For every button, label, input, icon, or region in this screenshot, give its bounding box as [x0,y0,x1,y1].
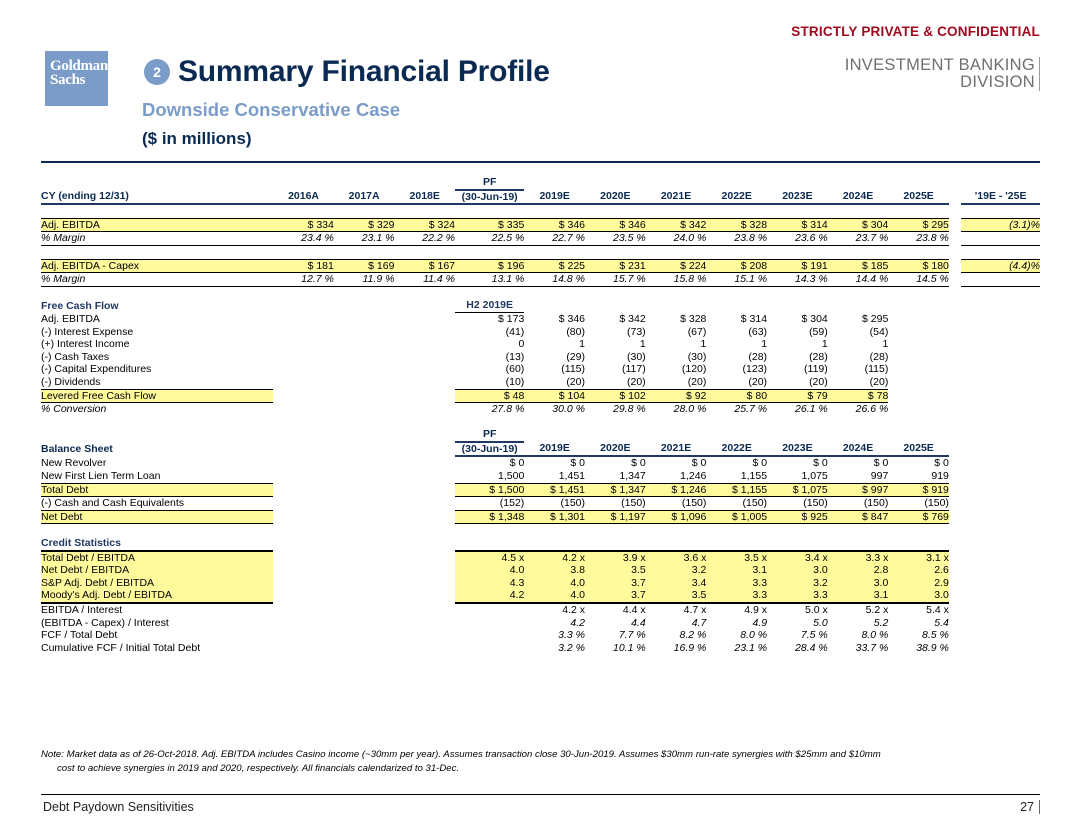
table-row-interest-income: (+) Interest Income 0 1 1 1 1 1 1 [41,338,1040,351]
cell: 23.6 % [767,232,828,246]
section-title: Balance Sheet [41,442,273,457]
row-label: (EBITDA - Capex) / Interest [41,617,273,630]
cell: 30.0 % [524,403,585,416]
bs-col-header-2024e: 2024E [828,442,889,457]
row-label: % Conversion [41,403,273,416]
cell: (117) [585,363,646,376]
cell: 1,246 [646,470,707,483]
cell: 1 [585,338,646,351]
cell: 1 [524,338,585,351]
cell: $ 191 [767,259,828,273]
cell: (115) [828,363,889,376]
cell: $ 346 [585,218,646,232]
cell: 2.8 [828,564,889,577]
cell [455,617,524,630]
cell: 1,155 [706,470,767,483]
row-label: (-) Capital Expenditures [41,363,273,376]
cell: $ 1,301 [524,510,585,524]
cell: 1 [706,338,767,351]
cell-cagr [961,273,1040,287]
cell: $ 295 [828,312,889,325]
cell: (30) [585,351,646,364]
page-number: 27 [1020,800,1040,814]
footnote: Note: Market data as of 26-Oct-2018. Adj… [41,748,1041,775]
cell: $ 1,500 [455,483,524,497]
cell: $ 0 [524,456,585,470]
cell: (20) [646,376,707,389]
row-label: EBITDA / Interest [41,603,273,617]
financial-table: PF CY (ending 12/31) 2016A 2017A 2018E (… [41,176,1040,654]
section-header-free-cash-flow: Free Cash Flow H2 2019E [41,299,1040,312]
cell: $ 925 [767,510,828,524]
cell: 4.2 [455,589,524,603]
cell: $ 0 [888,456,949,470]
cell: 2.6 [888,564,949,577]
row-label-header: CY (ending 12/31) [41,190,273,205]
cell: 4.2 [524,617,585,630]
header-divider [41,161,1040,163]
cell: (20) [767,376,828,389]
table-row-levered-free-cash-flow: Levered Free Cash Flow $ 48 $ 104 $ 102 … [41,389,1040,403]
cell: (13) [455,351,524,364]
cell: 5.0 [767,617,828,630]
cell: $ 847 [828,510,889,524]
spacer [41,524,1040,537]
cell-cagr: (3.1)% [961,218,1040,232]
cell: 3.0 [888,589,949,603]
table-row-conversion: % Conversion 27.8 % 30.0 % 29.8 % 28.0 %… [41,403,1040,416]
cell: 5.4 [888,617,949,630]
cell: 23.8 % [706,232,767,246]
cell: (28) [767,351,828,364]
table-row-fcf-total-debt: FCF / Total Debt 3.3 % 7.7 % 8.2 % 8.0 %… [41,629,1040,642]
footer-section-label: Debt Paydown Sensitivities [43,800,194,814]
cell: $ 169 [334,259,395,273]
cell: 14.8 % [524,273,585,287]
cell: 3.4 x [767,551,828,565]
cell: 3.3 [767,589,828,603]
cell: 14.5 % [888,273,949,287]
cell: 8.2 % [646,629,707,642]
cell: 4.7 [646,617,707,630]
cell: 26.6 % [828,403,889,416]
cell: 4.3 [455,577,524,590]
cell: $ 295 [888,218,949,232]
cell: $ 0 [585,456,646,470]
col-header-2020e: 2020E [585,190,646,205]
cell: (80) [524,326,585,339]
bs-col-header-2019e: 2019E [524,442,585,457]
cell: 919 [888,470,949,483]
row-label: Adj. EBITDA [41,218,273,232]
cell [455,603,524,617]
col-header-2019e: 2019E [524,190,585,205]
cell: $ 328 [646,312,707,325]
cell: $ 342 [585,312,646,325]
cell: 3.0 [767,564,828,577]
table-row-cash-taxes: (-) Cash Taxes (13) (29) (30) (30) (28) … [41,351,1040,364]
cell: 1 [646,338,707,351]
row-label: (-) Interest Expense [41,326,273,339]
spacer [41,286,1040,299]
cell: $ 79 [767,389,828,403]
col-header-2023e: 2023E [767,190,828,205]
cell: 26.1 % [767,403,828,416]
cell: 3.3 x [828,551,889,565]
cell: 997 [828,470,889,483]
cell: (28) [706,351,767,364]
cell: 3.2 [767,577,828,590]
cell: 13.1 % [455,273,524,287]
table-row-total-debt-ebitda: Total Debt / EBITDA 4.5 x 4.2 x 3.9 x 3.… [41,551,1040,565]
column-header-row: CY (ending 12/31) 2016A 2017A 2018E (30-… [41,190,1040,205]
cell: (150) [828,497,889,511]
section-title: Free Cash Flow [41,299,273,312]
cell: $ 304 [828,218,889,232]
cell: $ 180 [888,259,949,273]
cell: 22.5 % [455,232,524,246]
table-row-interest-expense: (-) Interest Expense (41) (80) (73) (67)… [41,326,1040,339]
cell: 7.5 % [767,629,828,642]
cell: $ 919 [888,483,949,497]
cell: (67) [646,326,707,339]
cell: (115) [524,363,585,376]
cell: 12.7 % [273,273,334,287]
cell: $ 102 [585,389,646,403]
cell: $ 78 [828,389,889,403]
ibd-line-2: DIVISION [845,74,1035,91]
cell: $ 334 [273,218,334,232]
cell: (54) [828,326,889,339]
col-header-pf-30jun19: (30-Jun-19) [455,190,524,205]
bs-col-header-2020e: 2020E [585,442,646,457]
footnote-line-2: cost to achieve synergies in 2019 and 20… [41,762,1041,776]
col-header-2022e: 2022E [706,190,767,205]
cell: 24.0 % [646,232,707,246]
bs-pf-label: PF [455,428,524,442]
row-label: Moody's Adj. Debt / EBITDA [41,589,273,603]
cell: 3.2 % [524,642,585,655]
row-label: New First Lien Term Loan [41,470,273,483]
cell: 3.7 [585,589,646,603]
cell: 3.5 [585,564,646,577]
row-label: New Revolver [41,456,273,470]
cell: 1,500 [455,470,524,483]
cell: $ 104 [524,389,585,403]
ibd-line-1: INVESTMENT BANKING [845,57,1035,74]
cell: 28.0 % [646,403,707,416]
investment-banking-division-mark: INVESTMENT BANKING DIVISION [845,57,1040,91]
row-label: Adj. EBITDA [41,312,273,325]
cell: $ 224 [646,259,707,273]
cell: (30) [646,351,707,364]
cell: 5.0 x [767,603,828,617]
cell: (20) [524,376,585,389]
cell: $ 80 [706,389,767,403]
cell: 11.9 % [334,273,395,287]
cell: 4.4 x [585,603,646,617]
row-label: Net Debt [41,510,273,524]
cell: (150) [767,497,828,511]
cell: 1 [828,338,889,351]
cell: (150) [888,497,949,511]
cell-cagr [961,232,1040,246]
footer-divider [41,794,1040,795]
row-label: Total Debt [41,483,273,497]
cell: $ 1,075 [767,483,828,497]
row-label: Net Debt / EBITDA [41,564,273,577]
table-row-net-debt: Net Debt $ 1,348 $ 1,301 $ 1,197 $ 1,096… [41,510,1040,524]
cell: 3.3 [706,577,767,590]
cell: 3.9 x [585,551,646,565]
cell: 10.1 % [585,642,646,655]
page-subtitle: Downside Conservative Case [142,99,400,121]
cell: 5.4 x [888,603,949,617]
slide: STRICTLY PRIVATE & CONFIDENTIAL INVESTME… [0,0,1081,831]
row-label: (-) Cash and Cash Equivalents [41,497,273,511]
row-label: % Margin [41,273,273,287]
cell: 16.9 % [646,642,707,655]
cell: 4.7 x [646,603,707,617]
cell: $ 231 [585,259,646,273]
table-row-total-debt: Total Debt $ 1,500 $ 1,451 $ 1,347 $ 1,2… [41,483,1040,497]
cell: $ 346 [524,218,585,232]
col-header-cagr: '19E - '25E [961,190,1040,205]
cell: 38.9 % [888,642,949,655]
cell: 11.4 % [394,273,455,287]
cell: 3.8 [524,564,585,577]
cell: $ 0 [828,456,889,470]
cell: $ 0 [706,456,767,470]
cell-cagr: (4.4)% [961,259,1040,273]
cell: $ 1,246 [646,483,707,497]
cell: $ 1,155 [706,483,767,497]
cell: $ 329 [334,218,395,232]
cell: 23.1 % [706,642,767,655]
balance-sheet-header-row: Balance Sheet (30-Jun-19) 2019E 2020E 20… [41,442,1040,457]
cell: $ 0 [646,456,707,470]
section-header-credit-statistics: Credit Statistics [41,537,1040,551]
cell: 28.4 % [767,642,828,655]
balance-sheet-pf-row: PF [41,428,1040,442]
cell: (119) [767,363,828,376]
table-row-cumulative-fcf-initial-total-debt: Cumulative FCF / Initial Total Debt 3.2 … [41,642,1040,655]
cell: $ 185 [828,259,889,273]
row-label: Levered Free Cash Flow [41,389,273,403]
cell [455,642,524,655]
col-header-2024e: 2024E [828,190,889,205]
cell: (20) [706,376,767,389]
cell: (41) [455,326,524,339]
section-title: Credit Statistics [41,537,273,551]
cell: (123) [706,363,767,376]
cell: (152) [455,497,524,511]
cell: $ 92 [646,389,707,403]
bs-col-header-pf: (30-Jun-19) [455,442,524,457]
row-label: FCF / Total Debt [41,629,273,642]
table-row-ebitda-interest: EBITDA / Interest 4.2 x 4.4 x 4.7 x 4.9 … [41,603,1040,617]
cell: 15.7 % [585,273,646,287]
row-label: S&P Adj. Debt / EBITDA [41,577,273,590]
cell: $ 304 [767,312,828,325]
table-row-moodys-adj-debt-ebitda: Moody's Adj. Debt / EBITDA 4.2 4.0 3.7 3… [41,589,1040,603]
spacer [41,245,1040,259]
cell: (59) [767,326,828,339]
cell: $ 225 [524,259,585,273]
table-row-new-revolver: New Revolver $ 0 $ 0 $ 0 $ 0 $ 0 $ 0 $ 0… [41,456,1040,470]
cell: $ 1,197 [585,510,646,524]
col-header-2018e: 2018E [394,190,455,205]
section-number-badge: 2 [144,59,170,85]
cell: 0 [455,338,524,351]
row-label: % Margin [41,232,273,246]
cell: 23.5 % [585,232,646,246]
bs-col-header-2023e: 2023E [767,442,828,457]
cell: 3.1 x [888,551,949,565]
cell: (28) [828,351,889,364]
bs-col-header-2021e: 2021E [646,442,707,457]
bs-col-header-2022e: 2022E [706,442,767,457]
cell: (120) [646,363,707,376]
cell: 3.1 [828,589,889,603]
cell: 8.0 % [828,629,889,642]
table-row-net-debt-ebitda: Net Debt / EBITDA 4.0 3.8 3.5 3.2 3.1 3.… [41,564,1040,577]
cell: (150) [646,497,707,511]
col-header-2021e: 2021E [646,190,707,205]
h2-2019e-header: H2 2019E [455,299,524,312]
cell: 29.8 % [585,403,646,416]
page-title: Summary Financial Profile [178,55,550,89]
cell: $ 1,451 [524,483,585,497]
cell: $ 769 [888,510,949,524]
cell: $ 342 [646,218,707,232]
cell: 4.9 [706,617,767,630]
cell: 8.5 % [888,629,949,642]
table-row-ebitda-margin: % Margin 23.4 % 23.1 % 22.2 % 22.5 % 22.… [41,232,1040,246]
table-row-sp-adj-debt-ebitda: S&P Adj. Debt / EBITDA 4.3 4.0 3.7 3.4 3… [41,577,1040,590]
goldman-sachs-logo: Goldman Sachs [45,51,108,106]
cell: 3.3 [706,589,767,603]
cell: 25.7 % [706,403,767,416]
pf-header-row: PF [41,176,1040,190]
cell: 1,451 [524,470,585,483]
cell: 23.1 % [334,232,395,246]
cell: 3.7 [585,577,646,590]
row-label: (-) Dividends [41,376,273,389]
cell: (10) [455,376,524,389]
row-label: (+) Interest Income [41,338,273,351]
spacer [41,416,1040,429]
table-row-first-lien-term-loan: New First Lien Term Loan 1,500 1,451 1,3… [41,470,1040,483]
spacer [41,204,1040,218]
cell: 15.8 % [646,273,707,287]
cell: 4.0 [524,589,585,603]
cell: (60) [455,363,524,376]
cell: 3.5 [646,589,707,603]
cell: 4.2 x [524,551,585,565]
cell: 3.0 [828,577,889,590]
cell: 4.4 [585,617,646,630]
cell: $ 1,005 [706,510,767,524]
cell: 4.2 x [524,603,585,617]
cell: 14.3 % [767,273,828,287]
cell: $ 324 [394,218,455,232]
bs-col-header-2025e: 2025E [888,442,949,457]
cell: $ 181 [273,259,334,273]
cell: 22.2 % [394,232,455,246]
confidential-banner: STRICTLY PRIVATE & CONFIDENTIAL [791,24,1040,39]
cell: $ 167 [394,259,455,273]
table-row-fcf-adj-ebitda: Adj. EBITDA $ 173 $ 346 $ 342 $ 328 $ 31… [41,312,1040,325]
cell: $ 314 [767,218,828,232]
table-row-ebitda-capex-margin: % Margin 12.7 % 11.9 % 11.4 % 13.1 % 14.… [41,273,1040,287]
table-row-capital-expenditures: (-) Capital Expenditures (60) (115) (117… [41,363,1040,376]
cell: $ 0 [767,456,828,470]
cell: $ 48 [455,389,524,403]
col-header-2025e: 2025E [888,190,949,205]
cell: 23.8 % [888,232,949,246]
cell: $ 346 [524,312,585,325]
cell [455,629,524,642]
cell: 3.6 x [646,551,707,565]
cell: (150) [524,497,585,511]
cell: $ 328 [706,218,767,232]
cell: 27.8 % [455,403,524,416]
cell: $ 314 [706,312,767,325]
cell: 22.7 % [524,232,585,246]
cell: 3.1 [706,564,767,577]
row-label: (-) Cash Taxes [41,351,273,364]
cell: (150) [706,497,767,511]
cell: 4.9 x [706,603,767,617]
col-header-2016a: 2016A [273,190,334,205]
cell: 4.0 [455,564,524,577]
cell: $ 173 [455,312,524,325]
row-label: Adj. EBITDA - Capex [41,259,273,273]
table-row-ebitda-capex-interest: (EBITDA - Capex) / Interest 4.2 4.4 4.7 … [41,617,1040,630]
col-header-2017a: 2017A [334,190,395,205]
cell: 2.9 [888,577,949,590]
cell: 1 [767,338,828,351]
cell: $ 208 [706,259,767,273]
cell: 3.5 x [706,551,767,565]
cell: 15.1 % [706,273,767,287]
cell: (20) [828,376,889,389]
table-row-adj-ebitda-capex: Adj. EBITDA - Capex $ 181 $ 169 $ 167 $ … [41,259,1040,273]
cell: (63) [706,326,767,339]
cell: (150) [585,497,646,511]
cell: $ 1,348 [455,510,524,524]
cell: (29) [524,351,585,364]
cell: 8.0 % [706,629,767,642]
cell: $ 997 [828,483,889,497]
cell: 14.4 % [828,273,889,287]
cell: $ 196 [455,259,524,273]
cell: $ 1,347 [585,483,646,497]
pf-label: PF [455,176,524,190]
cell: 4.0 [524,577,585,590]
cell: 4.5 x [455,551,524,565]
cell: 3.2 [646,564,707,577]
cell: 7.7 % [585,629,646,642]
cell: 5.2 [828,617,889,630]
footnote-line-1: Note: Market data as of 26-Oct-2018. Adj… [41,749,881,760]
cell: 3.3 % [524,629,585,642]
cell: 23.4 % [273,232,334,246]
table-row-adj-ebitda: Adj. EBITDA $ 334 $ 329 $ 324 $ 335 $ 34… [41,218,1040,232]
row-label: Total Debt / EBITDA [41,551,273,565]
cell: 3.4 [646,577,707,590]
